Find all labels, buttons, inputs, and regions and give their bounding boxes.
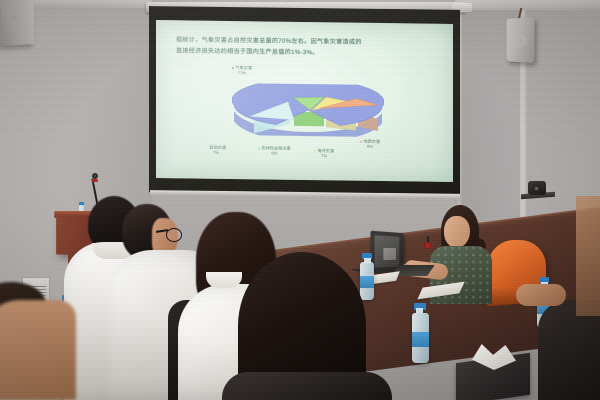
water-bottle-1[interactable]	[360, 258, 374, 300]
chart-label-geological: 地质灾害 9%	[360, 139, 380, 150]
chart-label-agriculture: 农林牧生物灾害 6%	[258, 145, 291, 156]
chart-label-meteorological: 气象灾害 71%	[232, 65, 252, 76]
water-bottle-3[interactable]	[412, 308, 429, 363]
ceiling-beam-right	[455, 0, 600, 10]
bottle-body	[412, 313, 429, 363]
wall-camera-icon	[528, 181, 546, 195]
bottle-neck	[364, 258, 371, 263]
chart-label-other: 其他灾害 7%	[206, 145, 226, 156]
pie-chart: 气象灾害 71% 地质灾害 9% 海洋灾害 7% 农林牧生物灾害 6% 其他灾害…	[196, 65, 411, 172]
attendee-right-edge	[576, 196, 600, 316]
meeting-room-photo: 据统计，气象灾害占自然灾害总量的70%左右。因气象灾害造成的 直接经济损失达约相…	[0, 0, 600, 400]
pie-chart-top-faces	[232, 83, 384, 137]
bottle-label	[412, 332, 429, 347]
attendee-5-hand	[516, 284, 566, 306]
wall-speaker-left-icon	[0, 0, 34, 46]
wall-speaker-right-icon	[507, 17, 535, 63]
desk-microphone-icon[interactable]	[424, 242, 431, 249]
bottle-neck	[416, 308, 423, 313]
bottle-body	[360, 262, 374, 300]
foreground-left-person	[0, 300, 76, 400]
bottle-label	[360, 276, 374, 288]
laptop-screen	[375, 235, 400, 268]
attendee-4-shoulder	[222, 372, 392, 400]
laptop-screen-content	[383, 248, 396, 260]
podium-microphone-ring	[92, 179, 98, 182]
chart-label-marine: 海洋灾害 7%	[314, 148, 334, 159]
glasses-icon	[166, 228, 182, 242]
slide-body-text: 据统计，气象灾害占自然灾害总量的70%左右。因气象灾害造成的 直接经济损失达约相…	[176, 35, 426, 60]
attendee-3-collar	[206, 272, 242, 288]
